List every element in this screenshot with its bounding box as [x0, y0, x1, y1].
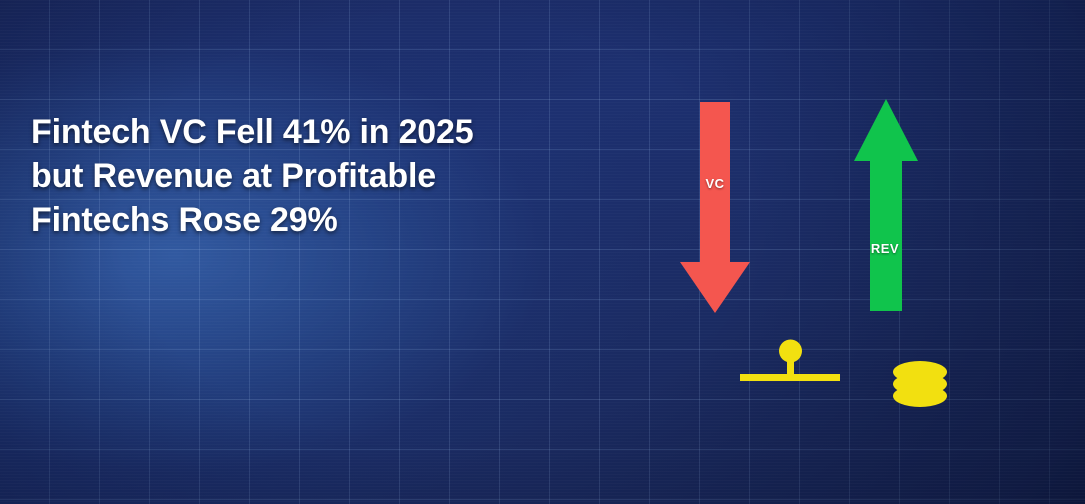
rev-arrow-label: REV	[850, 241, 920, 256]
graphics-layer	[0, 0, 1085, 504]
infographic-canvas: Fintech VC Fell 41% in 2025 but Revenue …	[0, 0, 1085, 504]
map-pin-marker-icon	[740, 340, 840, 382]
vc-down-arrow-icon	[680, 102, 750, 313]
rev-up-arrow-icon	[854, 99, 918, 311]
vc-arrow-label: VC	[680, 176, 750, 191]
coin-stack-icon	[893, 361, 947, 407]
